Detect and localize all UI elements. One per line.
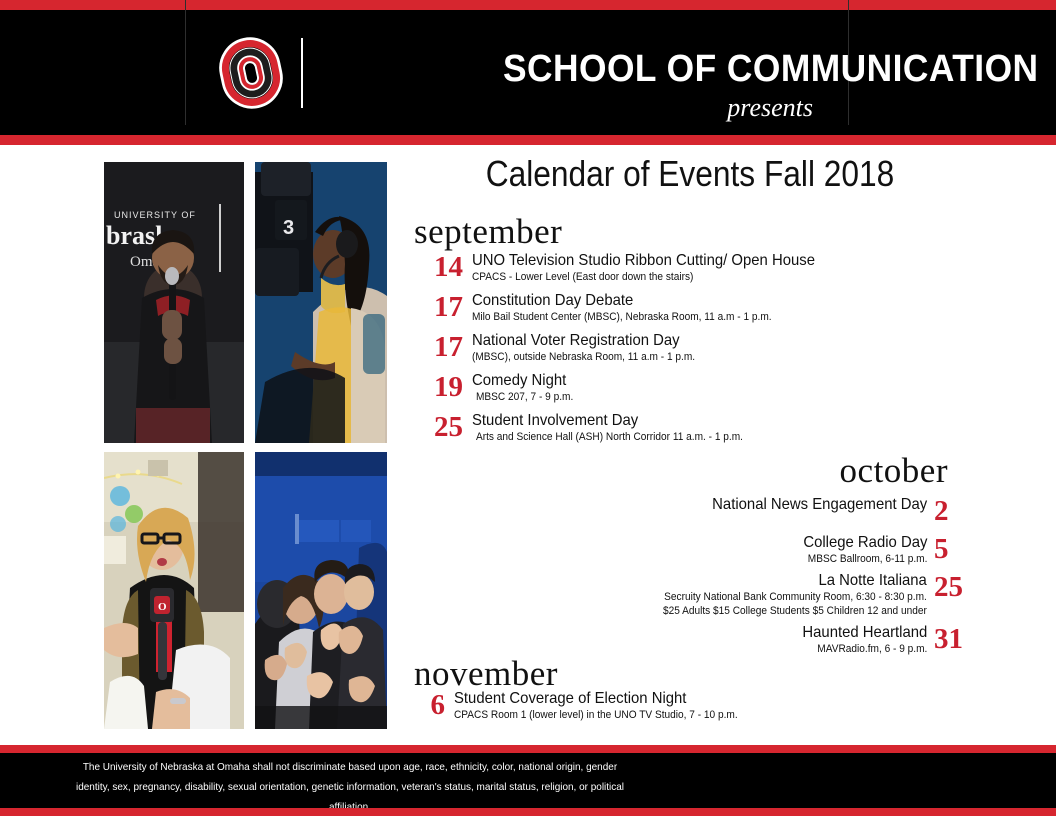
event-title: Student Coverage of Election Night: [454, 690, 741, 708]
svg-text:O: O: [158, 601, 167, 613]
event-row: La Notte Italiana Secruity National Bank…: [600, 572, 978, 618]
month-heading-september: september: [414, 213, 562, 251]
event-detail: (MBSC), outside Nebraska Room, 11 a.m - …: [472, 351, 695, 364]
event-detail: Milo Bail Student Center (MBSC), Nebrask…: [472, 311, 772, 324]
event-title: College Radio Day: [803, 534, 927, 552]
event-detail: CPACS Room 1 (lower level) in the UNO TV…: [454, 709, 738, 722]
event-title: Haunted Heartland: [802, 624, 927, 642]
svg-text:UNIVERSITY OF: UNIVERSITY OF: [114, 210, 196, 220]
event-row: 25 Student Involvement Day Arts and Scie…: [415, 412, 766, 444]
event-detail: Arts and Science Hall (ASH) North Corrid…: [476, 431, 743, 444]
event-row: 19 Comedy Night MBSC 207, 7 - 9 p.m.: [415, 372, 582, 404]
header-content: SCHOOL OF COMMUNICATION presents: [185, 0, 848, 125]
brand-presents-label: presents: [185, 95, 848, 121]
event-title: Student Involvement Day: [472, 412, 746, 430]
event-row: 6 Student Coverage of Election Night CPA…: [397, 690, 762, 722]
event-row: National News Engagement Day 2: [600, 496, 978, 525]
event-detail: CPACS - Lower Level (East door down the …: [472, 271, 811, 284]
event-row: Haunted Heartland MAVRadio.fm, 6 - 9 p.m…: [600, 624, 978, 656]
photo-reporter-uno-mic: O: [104, 452, 244, 729]
event-title: Constitution Day Debate: [472, 292, 775, 310]
event-title: Comedy Night: [472, 372, 574, 390]
month-heading-october: october: [600, 452, 948, 490]
calendar-poster: SCHOOL OF COMMUNICATION presents Calenda…: [0, 0, 1056, 816]
month-heading-november: november: [414, 655, 558, 693]
event-detail: $25 Adults $15 College Students $5 Child…: [663, 605, 927, 618]
event-detail: MBSC Ballroom, 6-11 p.m.: [804, 553, 927, 566]
event-day: 25: [415, 412, 463, 441]
event-day: 25: [934, 572, 978, 601]
svg-text:3: 3: [283, 217, 294, 239]
event-day: 5: [934, 534, 978, 563]
event-day: 31: [934, 624, 978, 653]
event-detail: MBSC 207, 7 - 9 p.m.: [476, 391, 573, 404]
event-title: La Notte Italiana: [660, 572, 927, 590]
event-day: 2: [934, 496, 978, 525]
event-day: 17: [415, 332, 463, 361]
event-row: 14 UNO Television Studio Ribbon Cutting/…: [415, 252, 841, 284]
page-title: Calendar of Events Fall 2018: [444, 153, 937, 195]
footer-bottom-accent-bar: [0, 808, 1056, 816]
event-title: National News Engagement Day: [712, 496, 927, 514]
photo-audience-applauding: [255, 452, 387, 729]
event-day: 17: [415, 292, 463, 321]
event-row: College Radio Day MBSC Ballroom, 6-11 p.…: [600, 534, 978, 566]
event-title: UNO Television Studio Ribbon Cutting/ Op…: [472, 252, 815, 270]
event-row: 17 National Voter Registration Day (MBSC…: [415, 332, 715, 364]
event-day: 6: [397, 690, 445, 719]
event-title: National Voter Registration Day: [472, 332, 698, 350]
event-day: 14: [415, 252, 463, 281]
photo-speaker-with-microphone: UNIVERSITY OF braska Omaha: [104, 162, 244, 443]
event-day: 19: [415, 372, 463, 401]
event-detail: Secruity National Bank Community Room, 6…: [663, 591, 927, 604]
brand-title: SCHOOL OF COMMUNICATION: [503, 50, 1039, 88]
event-row: 17 Constitution Day Debate Milo Bail Stu…: [415, 292, 798, 324]
photo-student-camera-operator: 3: [255, 162, 387, 443]
header-bottom-accent-bar: [0, 135, 1056, 145]
event-detail: MAVRadio.fm, 6 - 9 p.m.: [803, 643, 927, 656]
footer-top-accent-bar: [0, 745, 1056, 753]
